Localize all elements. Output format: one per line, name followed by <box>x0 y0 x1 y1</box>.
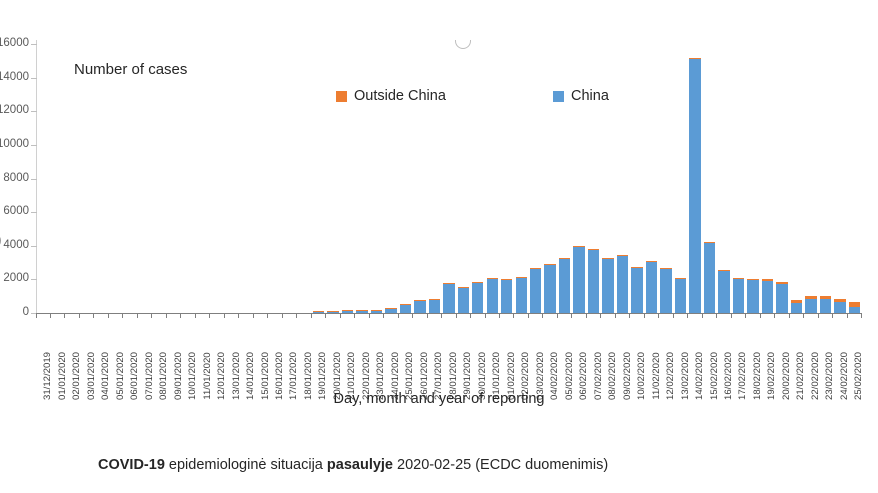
bar-column[interactable] <box>398 44 412 313</box>
x-axis-label-cell: 09/02/2020 <box>615 319 629 383</box>
x-axis-label-cell: 22/02/2020 <box>804 319 818 383</box>
x-axis-label-cell: 07/02/2020 <box>586 319 600 383</box>
bar-stack <box>776 282 787 313</box>
x-axis-label-cell: 08/02/2020 <box>601 319 615 383</box>
y-axis-tick-label: 0 <box>0 307 29 319</box>
x-axis-label-cell: 20/02/2020 <box>775 319 789 383</box>
bar-column[interactable] <box>485 44 499 313</box>
x-axis-label-cell: 24/02/2020 <box>833 319 847 383</box>
bar-segment-china <box>429 300 440 313</box>
legend-label-outside-china: Outside China <box>354 89 446 104</box>
bar-column[interactable] <box>442 44 456 313</box>
x-axis-label-cell: 29/01/2020 <box>456 319 470 383</box>
bar-stack <box>747 279 758 313</box>
bar-column[interactable] <box>239 44 253 313</box>
bar-segment-china <box>573 247 584 313</box>
bar-stack <box>559 258 570 313</box>
x-axis-label-cell: 23/01/2020 <box>369 319 383 383</box>
x-axis-tick <box>442 313 456 318</box>
bar-segment-china <box>400 305 411 313</box>
x-axis-label-cell: 01/01/2020 <box>50 319 64 383</box>
bar-segment-china <box>660 269 671 313</box>
bar-segment-china <box>646 262 657 313</box>
bar-segment-china <box>472 283 483 313</box>
caption-bold-pasaulyje: pasaulyje <box>327 457 393 473</box>
x-axis-label-cell: 03/01/2020 <box>79 319 93 383</box>
x-axis-tick <box>36 313 50 318</box>
x-axis-label-cell: 04/01/2020 <box>94 319 108 383</box>
bar-segment-china <box>689 59 700 313</box>
bar-column[interactable] <box>630 44 644 313</box>
chart-screenshot: ) 0200040006000800010000120001400016000 … <box>0 0 878 493</box>
x-axis-tick <box>398 313 412 318</box>
bar-column[interactable] <box>123 44 137 313</box>
x-axis-tick <box>224 313 238 318</box>
bar-stack <box>849 302 860 313</box>
bar-stack <box>458 287 469 313</box>
bar-segment-china <box>805 299 816 313</box>
bar-column[interactable] <box>297 44 311 313</box>
x-axis-label-cell: 11/02/2020 <box>644 319 658 383</box>
bar-stack <box>675 278 686 313</box>
bar-stack <box>631 267 642 313</box>
x-axis-tick <box>152 313 166 318</box>
bar-column[interactable] <box>586 44 600 313</box>
y-axis-tick-label: 8000 <box>0 173 29 185</box>
bar-column[interactable] <box>152 44 166 313</box>
x-axis-tick <box>615 313 629 318</box>
bar-stack <box>718 270 729 313</box>
x-axis-tick <box>500 313 514 318</box>
bar-column[interactable] <box>557 44 571 313</box>
x-axis-tick <box>195 313 209 318</box>
x-axis-tick <box>746 313 760 318</box>
y-axis-tick-label: 4000 <box>0 240 29 252</box>
x-axis-title: Day, month and year of reporting <box>0 391 878 407</box>
x-axis-label-cell: 22/01/2020 <box>355 319 369 383</box>
x-axis-label-cell: 03/02/2020 <box>528 319 542 383</box>
x-axis-label-cell: 14/02/2020 <box>688 319 702 383</box>
x-axis-label-cell: 14/01/2020 <box>239 319 253 383</box>
bar-column[interactable] <box>181 44 195 313</box>
x-axis-tick <box>268 313 282 318</box>
bar-column[interactable] <box>94 44 108 313</box>
x-axis-tick <box>659 313 673 318</box>
x-axis-tick <box>789 313 803 318</box>
x-axis-label-cell: 05/01/2020 <box>108 319 122 383</box>
bar-segment-china <box>530 269 541 313</box>
bar-column[interactable] <box>528 44 542 313</box>
x-axis-tick <box>514 313 528 318</box>
bar-column[interactable] <box>137 44 151 313</box>
bar-segment-china <box>443 284 454 313</box>
x-axis-label-cell: 24/01/2020 <box>384 319 398 383</box>
x-axis-label-cell: 30/01/2020 <box>471 319 485 383</box>
y-axis-tick-label: 10000 <box>0 139 29 151</box>
x-axis-tick <box>340 313 354 318</box>
bar-column[interactable] <box>326 44 340 313</box>
x-axis-tick <box>311 313 325 318</box>
bar-column[interactable] <box>543 44 557 313</box>
bar-column[interactable] <box>79 44 93 313</box>
bar-stack <box>660 268 671 313</box>
bar-segment-china <box>747 280 758 313</box>
bar-column[interactable] <box>688 44 702 313</box>
bar-stack <box>646 261 657 313</box>
x-axis-tick <box>717 313 731 318</box>
legend-swatch-china <box>553 91 564 102</box>
bar-column[interactable] <box>65 44 79 313</box>
bar-segment-china <box>733 279 744 313</box>
x-axis-tick <box>557 313 571 318</box>
x-axis-tick <box>543 313 557 318</box>
bar-column[interactable] <box>166 44 180 313</box>
x-axis-tick <box>94 313 108 318</box>
bar-stack <box>689 58 700 313</box>
bar-stack <box>704 242 715 313</box>
bar-segment-china <box>516 278 527 313</box>
x-axis-label-cell: 25/01/2020 <box>398 319 412 383</box>
x-axis-label-cell: 23/02/2020 <box>818 319 832 383</box>
bar-column[interactable] <box>572 44 586 313</box>
bar-column[interactable] <box>355 44 369 313</box>
x-axis-label-cell: 17/02/2020 <box>731 319 745 383</box>
bar-column[interactable] <box>427 44 441 313</box>
x-axis-label-cell: 01/02/2020 <box>500 319 514 383</box>
bar-column[interactable] <box>847 44 861 313</box>
bar-segment-china <box>718 271 729 313</box>
x-axis-label-cell: 10/01/2020 <box>181 319 195 383</box>
x-axis-label-cell: 21/02/2020 <box>789 319 803 383</box>
x-axis-label-cell: 09/01/2020 <box>166 319 180 383</box>
bar-column[interactable] <box>50 44 64 313</box>
bar-segment-china <box>776 284 787 313</box>
caption-lead: COVID-19 <box>98 457 165 473</box>
bar-column[interactable] <box>413 44 427 313</box>
bar-segment-china <box>820 299 831 313</box>
x-axis-tick <box>471 313 485 318</box>
bar-column[interactable] <box>340 44 354 313</box>
bar-segment-china <box>762 281 773 313</box>
x-axis-label-cell: 15/02/2020 <box>702 319 716 383</box>
bar-stack <box>530 268 541 313</box>
x-axis-label-cell: 02/02/2020 <box>514 319 528 383</box>
x-axis-tick <box>137 313 151 318</box>
bar-column[interactable] <box>108 44 122 313</box>
bar-column[interactable] <box>195 44 209 313</box>
x-axis-label-cell: 05/02/2020 <box>557 319 571 383</box>
bar-stack <box>617 255 628 313</box>
x-axis-tick <box>253 313 267 318</box>
x-axis-label-cell: 28/01/2020 <box>442 319 456 383</box>
bar-column[interactable] <box>731 44 745 313</box>
bar-stack <box>501 279 512 313</box>
bar-column[interactable] <box>746 44 760 313</box>
bar-segment-china <box>617 256 628 313</box>
x-axis-tick <box>804 313 818 318</box>
bar-column[interactable] <box>253 44 267 313</box>
bar-column[interactable] <box>818 44 832 313</box>
bar-segment-china <box>588 250 599 313</box>
bar-segment-china <box>631 268 642 313</box>
bar-stack <box>573 246 584 313</box>
x-axis-label-cell: 12/02/2020 <box>659 319 673 383</box>
x-axis-label-cell: 16/02/2020 <box>717 319 731 383</box>
x-axis-tick <box>282 313 296 318</box>
bar-column[interactable] <box>282 44 296 313</box>
x-axis-label-cell: 26/01/2020 <box>413 319 427 383</box>
x-axis-tick <box>427 313 441 318</box>
legend-item-china[interactable]: China <box>553 89 609 104</box>
bar-segment-china <box>544 265 555 313</box>
bar-column[interactable] <box>673 44 687 313</box>
bar-column[interactable] <box>717 44 731 313</box>
x-axis-label-cell: 19/02/2020 <box>760 319 774 383</box>
x-axis-tick <box>181 313 195 318</box>
x-axis-tick <box>528 313 542 318</box>
x-axis-tick <box>688 313 702 318</box>
bar-segment-china <box>501 280 512 313</box>
x-axis-label-cell: 17/01/2020 <box>282 319 296 383</box>
x-axis-tick <box>384 313 398 318</box>
bar-column[interactable] <box>804 44 818 313</box>
bar-segment-china <box>675 279 686 313</box>
x-axis-label-cell: 02/01/2020 <box>65 319 79 383</box>
bar-column[interactable] <box>311 44 325 313</box>
bar-stack <box>443 283 454 313</box>
x-axis-label-cell: 12/01/2020 <box>210 319 224 383</box>
x-axis-tick <box>65 313 79 318</box>
x-axis-tick <box>413 313 427 318</box>
x-axis-tick <box>586 313 600 318</box>
x-axis-label-cell: 31/01/2020 <box>485 319 499 383</box>
x-axis-label-cell: 13/02/2020 <box>673 319 687 383</box>
y-axis-tick-label: 16000 <box>0 38 29 50</box>
x-axis-tick <box>355 313 369 318</box>
x-axis-tick <box>847 313 861 318</box>
bar-column[interactable] <box>210 44 224 313</box>
x-axis-label-cell: 04/02/2020 <box>543 319 557 383</box>
caption-tail: 2020-02-25 (ECDC duomenimis) <box>393 457 608 473</box>
figure-caption: COVID-19 epidemiologinė situacija pasaul… <box>98 457 608 473</box>
x-axis-label-cell: 31/12/2019 <box>36 319 50 383</box>
x-axis-tick-marks <box>36 313 862 318</box>
y-axis-tick-label: 2000 <box>0 273 29 285</box>
bar-stack <box>544 264 555 313</box>
plot-note-number-of-cases: Number of cases <box>74 61 187 78</box>
x-axis-tick <box>485 313 499 318</box>
x-axis-label-cell: 08/01/2020 <box>152 319 166 383</box>
bar-segment-china <box>704 243 715 313</box>
x-axis-tick <box>326 313 340 318</box>
bar-column[interactable] <box>615 44 629 313</box>
x-axis-tick <box>644 313 658 318</box>
x-axis-tick <box>166 313 180 318</box>
legend-label-china: China <box>571 89 609 104</box>
bar-segment-china <box>834 302 845 313</box>
x-axis-tick <box>572 313 586 318</box>
bar-column[interactable] <box>224 44 238 313</box>
x-axis-label-cell: 19/01/2020 <box>311 319 325 383</box>
x-axis-tick <box>760 313 774 318</box>
x-axis-tick <box>297 313 311 318</box>
bar-stack <box>602 258 613 313</box>
bar-stack <box>516 277 527 313</box>
x-axis-labels: 31/12/201901/01/202002/01/202003/01/2020… <box>36 319 862 383</box>
x-axis-tick <box>673 313 687 318</box>
bar-stack <box>820 296 831 313</box>
x-axis-label-cell: 16/01/2020 <box>268 319 282 383</box>
x-axis-tick <box>369 313 383 318</box>
x-axis-label-cell: 27/01/2020 <box>427 319 441 383</box>
bar-column[interactable] <box>601 44 615 313</box>
x-axis-tick <box>833 313 847 318</box>
x-axis-label-cell: 15/01/2020 <box>253 319 267 383</box>
bar-stack <box>429 299 440 313</box>
x-axis-tick <box>601 313 615 318</box>
x-axis-tick <box>108 313 122 318</box>
caption-mid: epidemiologinė situacija <box>165 457 327 473</box>
chart-legend: Outside China China <box>336 89 636 109</box>
bar-column[interactable] <box>456 44 470 313</box>
bar-stack <box>805 296 816 313</box>
bar-column[interactable] <box>369 44 383 313</box>
x-axis-tick <box>630 313 644 318</box>
bar-column[interactable] <box>789 44 803 313</box>
x-axis-tick <box>239 313 253 318</box>
bar-column[interactable] <box>659 44 673 313</box>
x-axis-label-cell: 21/01/2020 <box>340 319 354 383</box>
x-axis-label-cell: 18/01/2020 <box>297 319 311 383</box>
x-axis-label-cell: 10/02/2020 <box>630 319 644 383</box>
bar-stack <box>762 279 773 313</box>
x-axis-label-cell: 25/02/2020 <box>847 319 861 383</box>
x-axis-tick <box>702 313 716 318</box>
x-axis-tick <box>50 313 64 318</box>
bar-column[interactable] <box>268 44 282 313</box>
bar-segment-china <box>559 259 570 313</box>
x-axis-label-cell: 11/01/2020 <box>195 319 209 383</box>
x-axis-label-cell: 06/01/2020 <box>123 319 137 383</box>
x-axis-tick <box>775 313 789 318</box>
bar-column[interactable] <box>514 44 528 313</box>
bar-stack <box>472 282 483 313</box>
bar-column[interactable] <box>760 44 774 313</box>
legend-item-outside-china[interactable]: Outside China <box>336 89 446 104</box>
bar-stack <box>487 278 498 313</box>
y-axis-tick-label: 6000 <box>0 206 29 218</box>
bar-stack <box>588 249 599 313</box>
bar-column[interactable] <box>471 44 485 313</box>
bar-stack <box>733 278 744 313</box>
bar-segment-china <box>458 288 469 313</box>
x-axis-tick <box>731 313 745 318</box>
bar-column[interactable] <box>644 44 658 313</box>
bar-column[interactable] <box>702 44 716 313</box>
y-axis-tick-label: 12000 <box>0 105 29 117</box>
bar-column[interactable] <box>833 44 847 313</box>
x-axis-label-cell: 20/01/2020 <box>326 319 340 383</box>
bar-column[interactable] <box>384 44 398 313</box>
x-axis-label-cell: 13/01/2020 <box>224 319 238 383</box>
x-axis-tick <box>456 313 470 318</box>
bar-stack <box>400 304 411 313</box>
x-axis-label-cell: 06/02/2020 <box>572 319 586 383</box>
bar-segment-china <box>602 259 613 313</box>
x-axis-tick <box>210 313 224 318</box>
bar-column[interactable] <box>775 44 789 313</box>
x-axis-label-cell: 18/02/2020 <box>746 319 760 383</box>
x-axis-tick <box>123 313 137 318</box>
x-axis-tick <box>818 313 832 318</box>
x-axis-tick <box>79 313 93 318</box>
bar-stack <box>791 300 802 313</box>
bar-segment-china <box>414 301 425 313</box>
bar-column[interactable] <box>500 44 514 313</box>
bar-stack <box>414 300 425 313</box>
bar-series-area <box>36 44 862 313</box>
y-axis-tick-label: 14000 <box>0 72 29 84</box>
legend-swatch-outside-china <box>336 91 347 102</box>
bar-stack <box>834 299 845 313</box>
bar-segment-china <box>791 303 802 313</box>
bar-segment-china <box>487 279 498 313</box>
x-axis-label-cell: 07/01/2020 <box>137 319 151 383</box>
bar-column[interactable] <box>36 44 50 313</box>
